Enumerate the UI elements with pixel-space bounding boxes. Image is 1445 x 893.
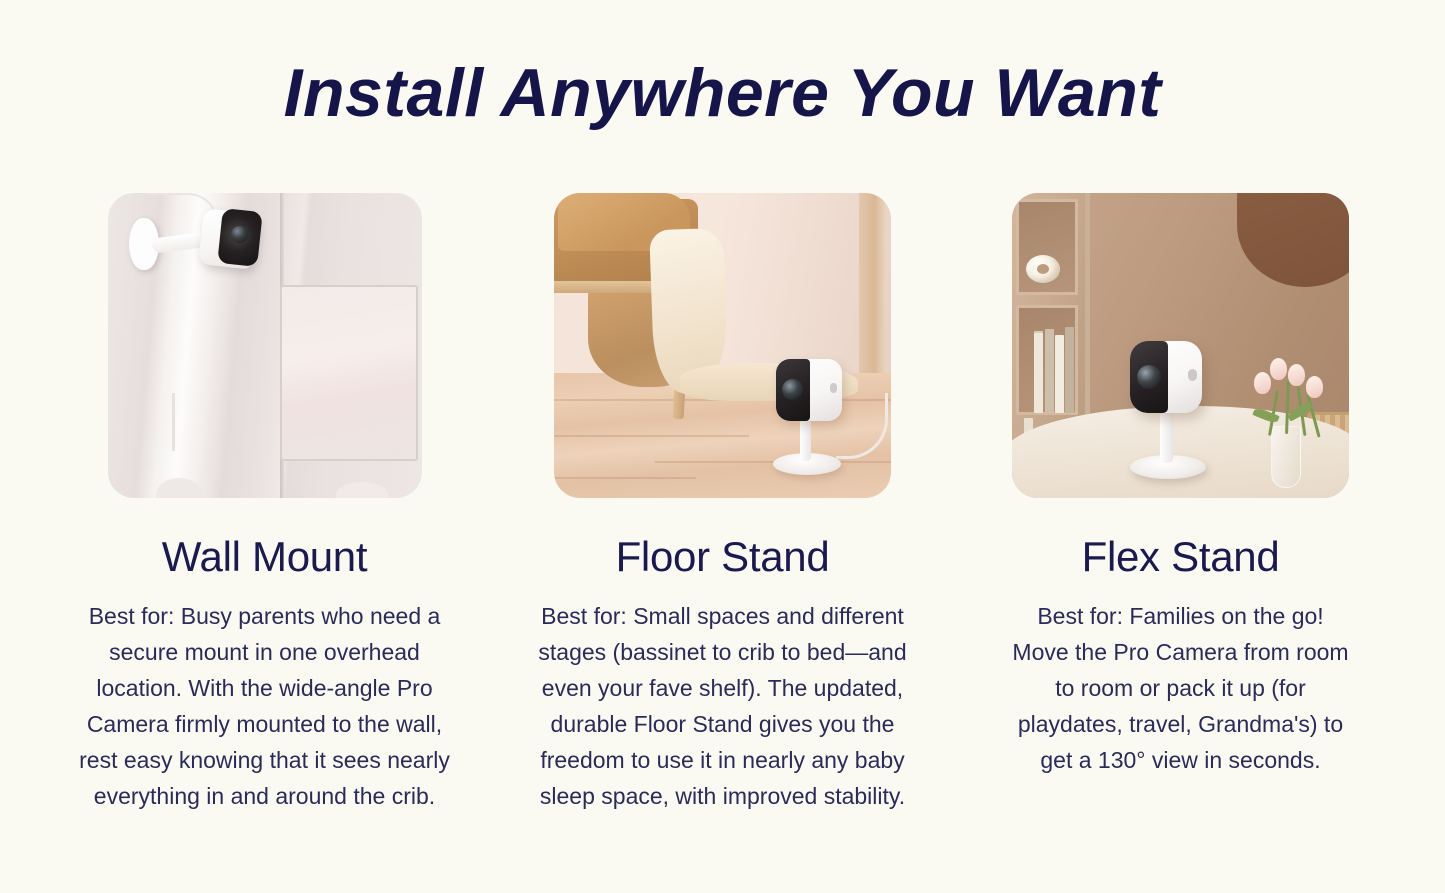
mount-options-grid: Wall Mount Best for: Busy parents who ne… <box>96 193 1349 814</box>
wall-cord-graphic <box>172 393 175 451</box>
flex-stand-stem-graphic <box>1160 411 1173 463</box>
install-anywhere-section: Install Anywhere You Want <box>0 0 1445 893</box>
picture-frame-graphic <box>280 285 418 461</box>
floor-stand-stem-graphic <box>800 419 811 461</box>
card-heading-wall-mount: Wall Mount <box>162 532 368 582</box>
floor-stand-scene <box>554 193 891 498</box>
camera-lens-icon <box>1137 365 1161 389</box>
tulip-flower-graphic <box>1254 372 1271 394</box>
tulip-flower-graphic <box>1270 358 1287 380</box>
wall-mount-scene <box>108 193 422 498</box>
card-body-flex-stand: Best for: Families on the go! Move the P… <box>1011 598 1351 778</box>
book-graphic <box>1055 335 1064 413</box>
camera-side-button-icon <box>830 383 837 393</box>
card-heading-flex-stand: Flex Stand <box>1082 532 1280 582</box>
mount-option-flex-stand: Flex Stand Best for: Families on the go!… <box>1012 193 1349 778</box>
ceramic-decor-graphic <box>1026 255 1060 283</box>
mount-option-floor-stand: Floor Stand Best for: Small spaces and d… <box>554 193 891 814</box>
door-jamb-graphic <box>859 193 885 385</box>
card-heading-floor-stand: Floor Stand <box>616 532 830 582</box>
card-body-floor-stand: Best for: Small spaces and different sta… <box>527 598 919 814</box>
mount-option-wall-mount: Wall Mount Best for: Busy parents who ne… <box>96 193 433 814</box>
flex-stand-scene <box>1012 193 1349 498</box>
floor-plank-line <box>554 477 696 479</box>
flex-stand-image <box>1012 193 1349 498</box>
camera-lens-icon <box>782 379 803 400</box>
card-body-wall-mount: Best for: Busy parents who need a secure… <box>67 598 462 814</box>
book-graphic <box>1065 327 1074 413</box>
book-graphic <box>1034 333 1043 413</box>
page-title: Install Anywhere You Want <box>0 52 1445 134</box>
camera-side-button-icon <box>1188 369 1197 381</box>
floor-stand-image <box>554 193 891 498</box>
book-graphic <box>1045 329 1054 413</box>
wall-mount-image <box>108 193 422 498</box>
glass-vase-graphic <box>1271 426 1301 488</box>
floor-plank-line <box>554 435 749 437</box>
tulip-flower-graphic <box>1306 376 1323 398</box>
tulip-flower-graphic <box>1288 364 1305 386</box>
